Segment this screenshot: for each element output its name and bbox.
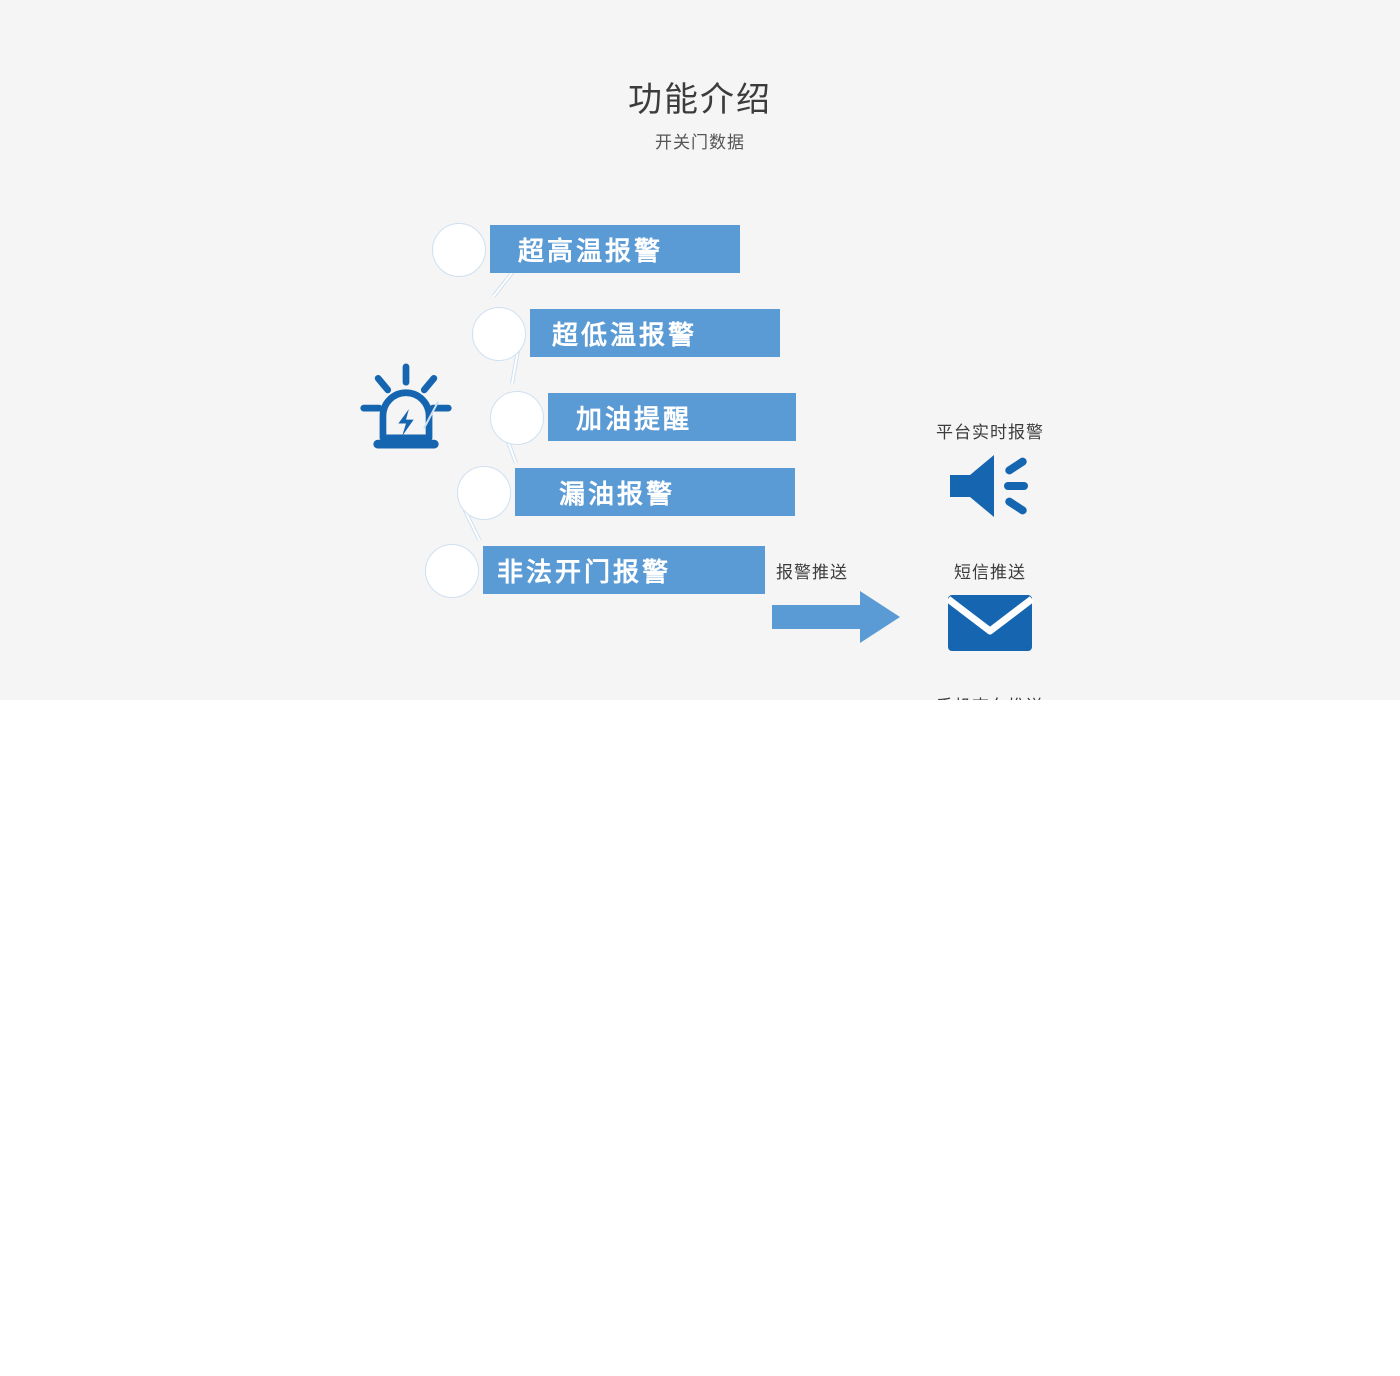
features-section: 功能介绍 开关门数据: [0, 0, 1400, 700]
alarm-flow-diagram: 超高温报警 超低温报警 加油提醒 漏油报警 非法开门报警: [0, 190, 1400, 640]
alarm-bubble: [472, 307, 526, 361]
channel-label: 短信推送: [880, 558, 1100, 583]
alarm-bar: 非法开门报警: [483, 546, 765, 594]
channel-label: 平台实时报警: [880, 418, 1100, 443]
alarm-bar: 漏油报警: [515, 468, 795, 516]
alarm-label: 超低温报警: [552, 315, 697, 352]
features-page-title: 功能介绍: [0, 72, 1400, 121]
alarm-label: 漏油报警: [559, 474, 675, 511]
alarm-bar: 加油提醒: [548, 393, 796, 441]
alarm-label: 加油提醒: [576, 399, 692, 436]
channel-platform-alarm: 平台实时报警: [880, 418, 1100, 526]
channel-sms-push: 短信推送: [880, 558, 1100, 660]
features-subtitle: 开关门数据: [0, 128, 1400, 153]
alarm-bar: 超高温报警: [490, 225, 740, 273]
alarm-bubble: [425, 544, 479, 598]
alarm-bubble: [432, 223, 486, 277]
alarm-label: 非法开门报警: [497, 552, 671, 589]
envelope-icon: [946, 591, 1034, 655]
alarm-bar: 超低温报警: [530, 309, 780, 357]
alarm-bubble: [490, 391, 544, 445]
alarm-label: 超高温报警: [518, 231, 663, 268]
alarm-bubble: [457, 466, 511, 520]
speaker-icon: [942, 451, 1038, 521]
siren-alarm-icon: [358, 363, 454, 459]
terminal-section: 配套终端: [0, 700, 1400, 1376]
